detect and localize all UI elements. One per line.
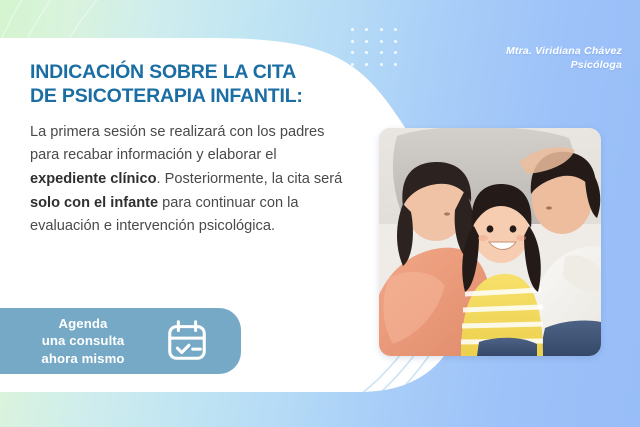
body-emphasis-2: solo con el infante <box>30 195 158 211</box>
cta-line-3: ahora mismo <box>8 350 158 367</box>
calendar-check-icon <box>164 318 210 364</box>
cta-line-2: una consulta <box>8 332 158 349</box>
author-name: Mtra. Viridiana Chávez <box>506 44 622 58</box>
cta-line-1: Agenda <box>8 315 158 332</box>
cta-label: Agenda una consulta ahora mismo <box>8 315 158 367</box>
author-role: Psicóloga <box>506 58 622 72</box>
family-photo-illustration <box>379 128 601 356</box>
page-title: INDICACIÓN SOBRE LA CITA DE PSICOTERAPIA… <box>30 60 352 109</box>
body-segment-1: La primera sesión se realizará con los p… <box>30 124 324 164</box>
poster-canvas: Mtra. Viridiana Chávez Psicóloga INDICAC… <box>0 0 640 427</box>
body-segment-2: . Posteriormente, la cita será <box>157 171 343 187</box>
headline-line-2: DE PSICOTERAPIA INFANTIL: <box>30 84 352 108</box>
body-paragraph: La primera sesión se realizará con los p… <box>30 121 352 239</box>
family-photo <box>379 128 601 356</box>
author-credit: Mtra. Viridiana Chávez Psicóloga <box>506 44 622 73</box>
schedule-appointment-banner[interactable]: Agenda una consulta ahora mismo <box>0 308 241 374</box>
body-emphasis-1: expediente clínico <box>30 171 157 187</box>
text-content-block: INDICACIÓN SOBRE LA CITA DE PSICOTERAPIA… <box>30 60 352 239</box>
dot-grid-icon <box>345 24 403 70</box>
headline-line-1: INDICACIÓN SOBRE LA CITA <box>30 61 296 83</box>
